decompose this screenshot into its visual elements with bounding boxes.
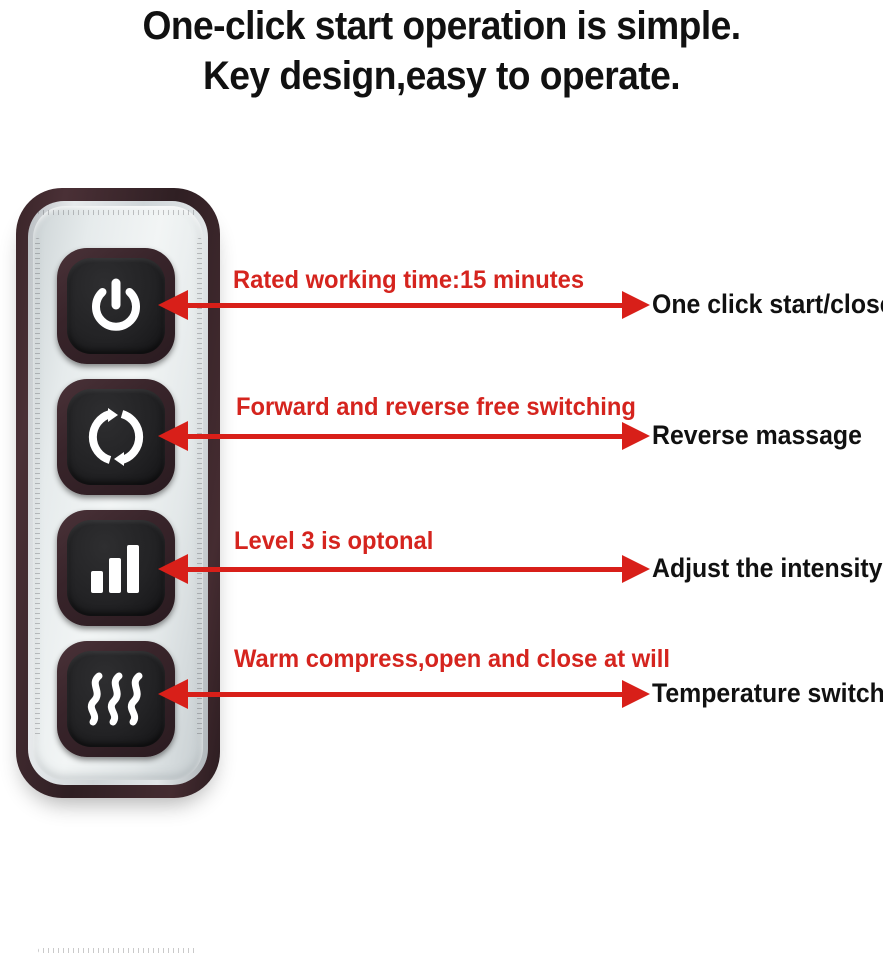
annotation-note-power: Rated working time:15 minutes [233,266,584,295]
heat-button-face [67,651,165,747]
headings-block: One-click start operation is simple. Key… [0,0,883,97]
arrowhead-right-power [622,291,650,319]
connector-line-heat [187,692,624,697]
connector-line-power [187,303,624,308]
annotation-label-intensity: Adjust the intensity [652,553,882,584]
arrowhead-left-heat [158,679,188,709]
reverse-icon [84,405,148,469]
arrowhead-left-intensity [158,554,188,584]
connector-line-intensity [187,567,624,572]
device-seam-right [197,238,202,738]
arrowhead-right-intensity [622,555,650,583]
annotation-note-intensity: Level 3 is optonal [234,527,433,556]
page-title-line-2: Key design,easy to operate. [31,48,852,98]
annotation-label-reverse: Reverse massage [652,420,862,451]
arrowhead-left-power [158,290,188,320]
power-button-face [67,258,165,354]
annotation-note-heat: Warm compress,open and close at will [234,645,670,674]
intensity-button-face [67,520,165,616]
annotation-label-heat: Temperature switch [652,678,883,709]
device-seam-bottom [38,948,198,953]
device-seam-left [35,238,40,738]
arrowhead-left-reverse [158,421,188,451]
annotation-note-reverse: Forward and reverse free switching [236,393,636,422]
page-title-line-1: One-click start operation is simple. [31,0,852,48]
massager-control-panel [16,188,220,798]
arrowhead-right-heat [622,680,650,708]
device-seam-top [38,210,198,215]
annotation-label-power: One click start/close [652,289,883,320]
connector-line-reverse [187,434,624,439]
heat-waves-icon [85,670,147,728]
arrowhead-right-reverse [622,422,650,450]
power-icon [85,275,147,337]
reverse-button-face [67,389,165,485]
bar-levels-icon [87,539,145,597]
